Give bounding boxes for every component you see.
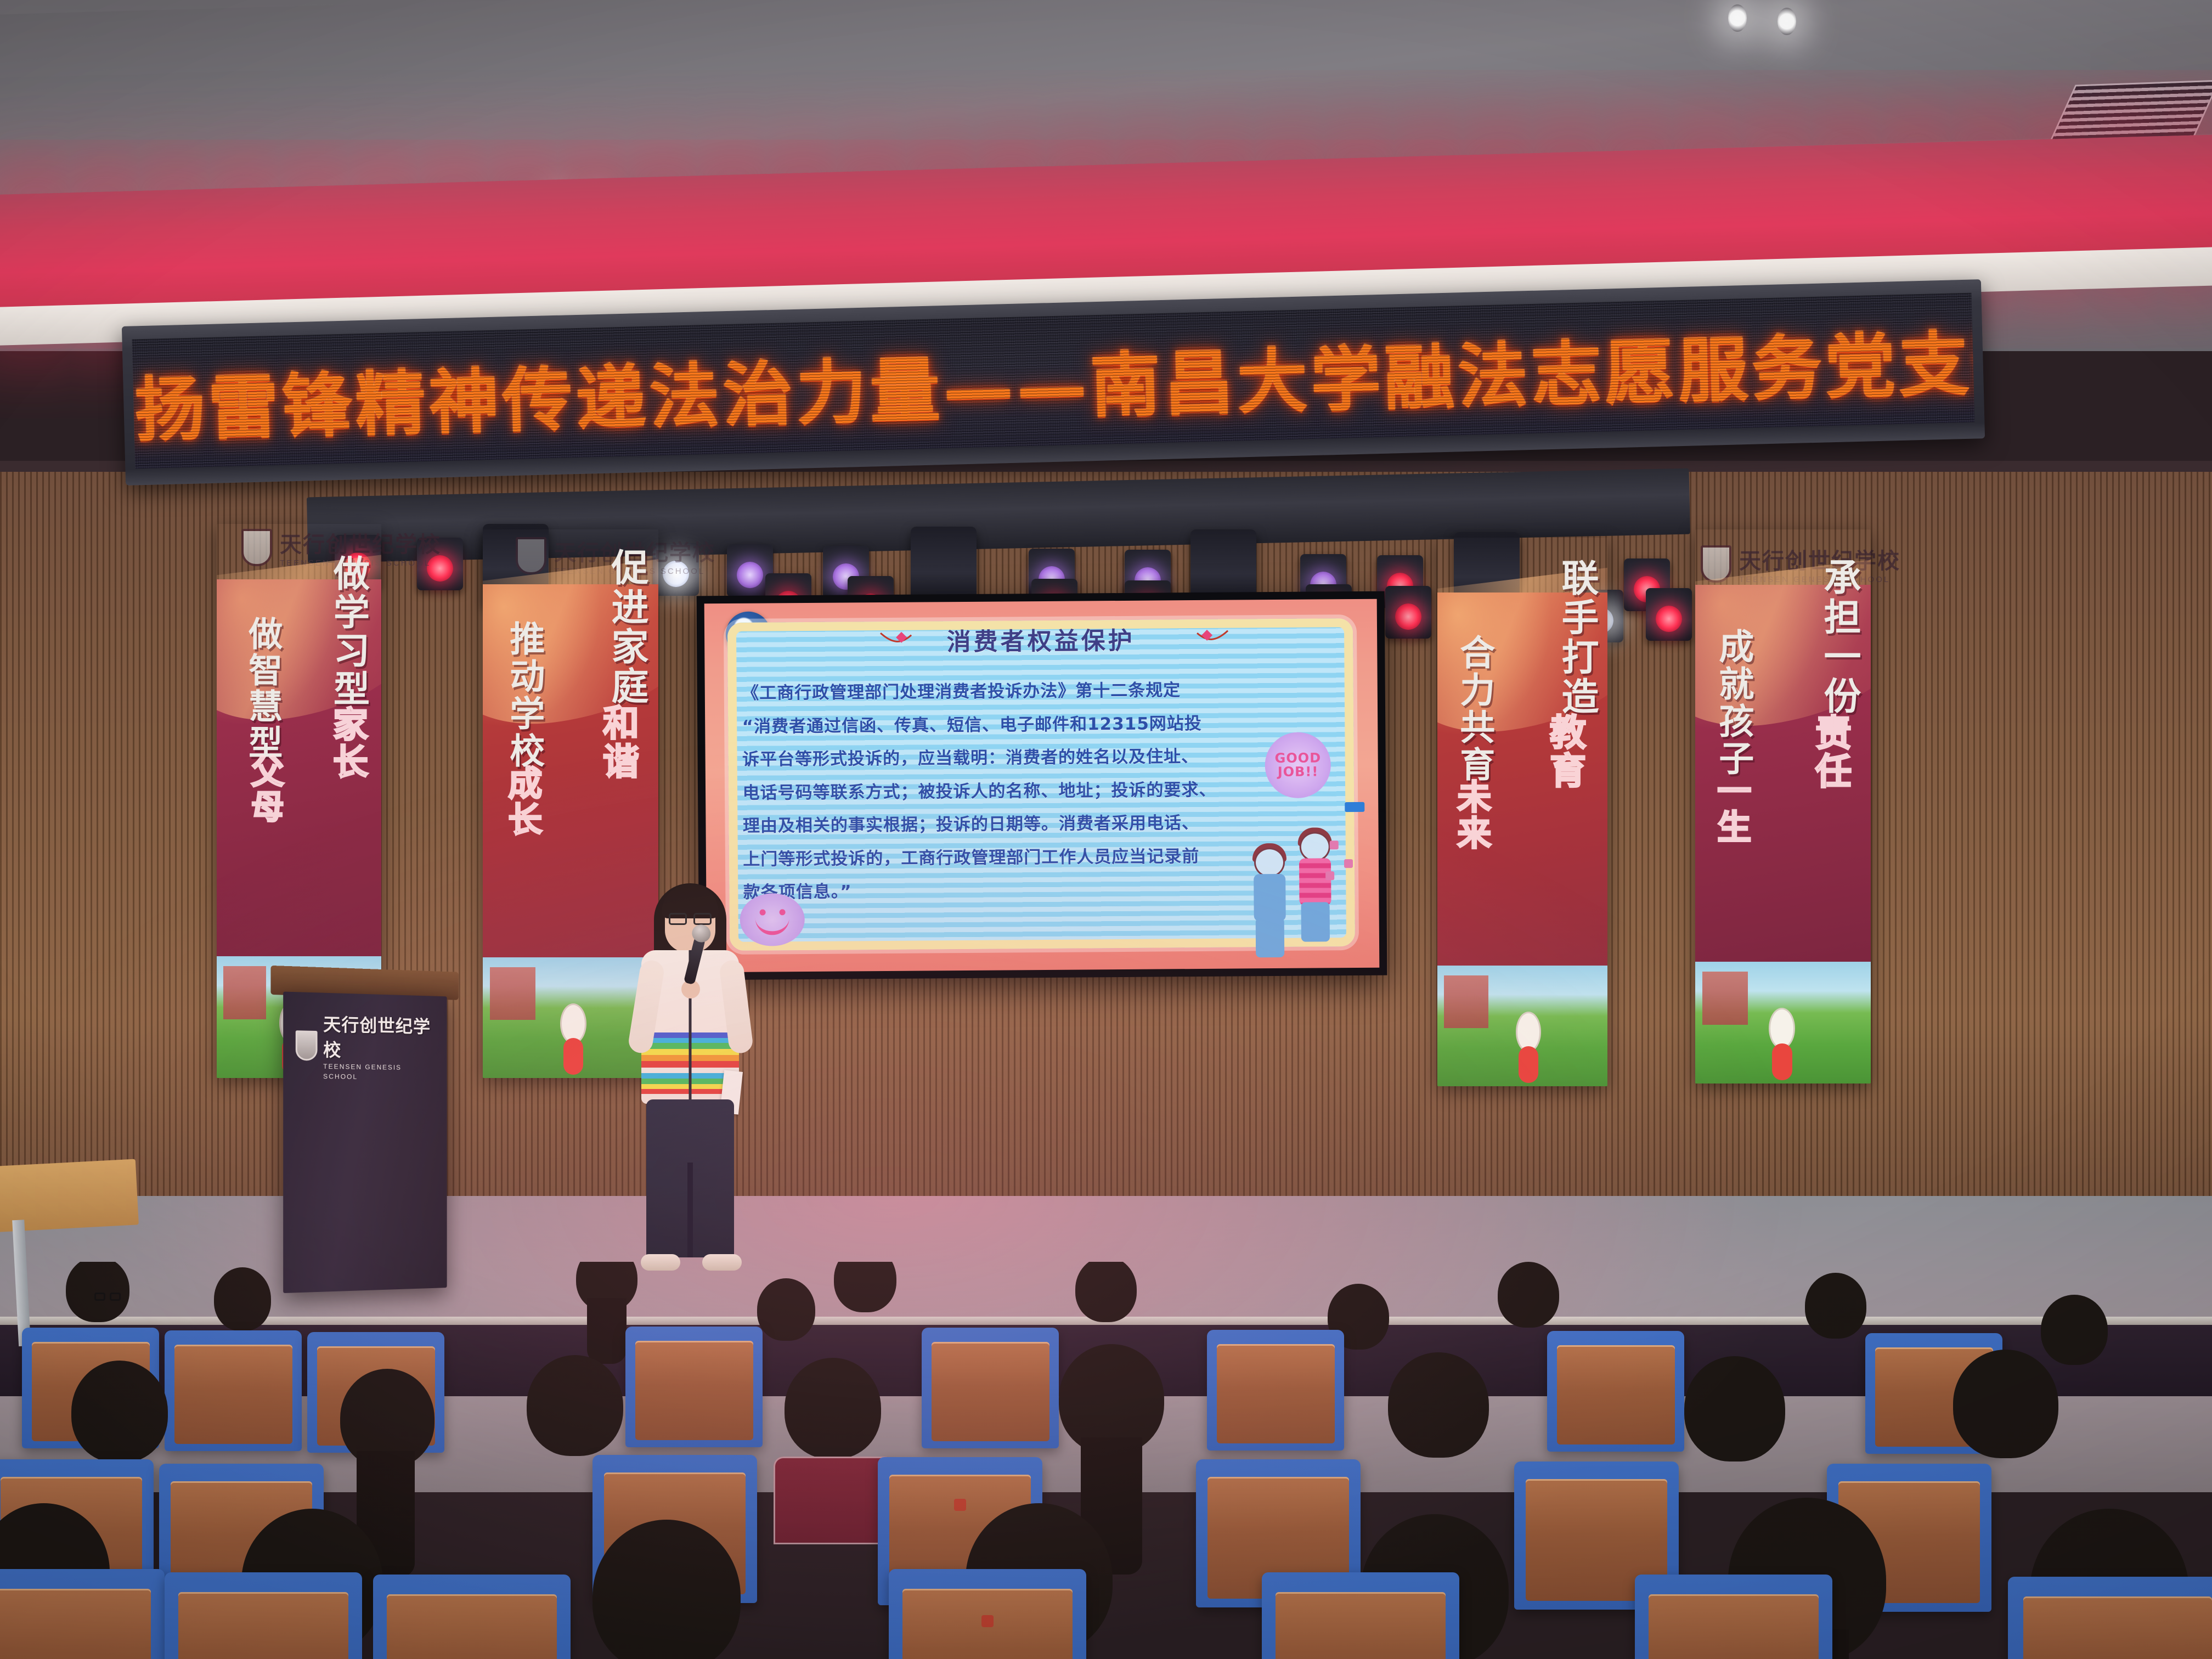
speaker-trousers [646,1099,734,1257]
banner-text-outline: 一生 [1714,773,1748,845]
audience-member [340,1369,439,1500]
good-job-sticker: GOOD JOB!! [1265,732,1331,798]
slide-line: 上门等形式投诉的，工商行政管理部门工作人员应当记录前 [743,839,1331,876]
audience-member [576,1262,642,1328]
cartoon-boy [1248,848,1292,958]
auditorium-seat[interactable] [889,1569,1086,1659]
slide-line: 电话号码等联系方式；被投诉人的名称、地址；投诉的要求、 [742,772,1331,810]
slide-title: 消费者权益保护 [704,619,1377,659]
slide-tab-marker [1345,802,1365,811]
banner-panel-right-2: 承担一份 责任 成就孩子 一生 [1695,529,1871,1084]
podium-logo-en: TEENSEN GENESIS SCHOOL [323,1063,402,1081]
slide-line: 理由及相关的事实根据；投诉的日期等。消费者采用电话、 [743,805,1331,843]
banner-text-outline: 家长 [329,706,365,781]
eyeglasses-icon [94,1293,121,1301]
eyeglasses-icon [669,913,712,925]
side-desk [0,1159,139,1233]
banner-text-outline: 未来 [1454,779,1488,851]
podium: 天行创世纪学校 TEENSEN GENESIS SCHOOL [283,966,447,1301]
auditorium-seat[interactable] [165,1572,362,1659]
cartoon-children-illustration [1248,831,1353,957]
banner-text-solid: 推动学校 [506,620,541,770]
audience-member [214,1267,274,1339]
presentation-slide: ⚖ 消费者权益保护 《工商行政管理部门处理消费者投诉办法》第十二条规定 “消费者… [704,599,1380,973]
audience-member [1059,1344,1169,1481]
par-light-icon [1646,588,1692,641]
speaker-person [624,878,756,1284]
auditorium-seat[interactable] [922,1328,1059,1448]
banner-text-outline: 责任 [1812,714,1849,791]
slide-body: 《工商行政管理部门处理消费者投诉办法》第十二条规定 “消费者通过信函、传真、短信… [742,673,1332,910]
auditorium-seat[interactable] [2008,1577,2212,1659]
auditorium-seat[interactable] [625,1327,763,1447]
slide-line: 款各项信息。” [743,872,1332,909]
projection-screen: ⚖ 消费者权益保护 《工商行政管理部门处理消费者投诉办法》第十二条规定 “消费者… [697,591,1387,980]
auditorium-seat[interactable] [1207,1330,1344,1451]
banner-text-solid: 联手打造 [1558,558,1595,716]
banner-text-solid: 成就孩子 [1715,628,1751,777]
good-job-line2: JOB!! [1278,765,1319,779]
auditorium-seat[interactable] [165,1330,302,1451]
banner-text-outline: 父母 [247,754,281,825]
banner-text-solid: 促进家庭 [607,548,645,706]
audience-member [592,1520,746,1659]
auditorium-seat[interactable] [1547,1331,1684,1452]
slide-line: “消费者通过信函、传真、短信、电子邮件和12315网站投 [742,706,1330,743]
audience-member [1075,1262,1141,1333]
good-job-line1: GOOD [1275,751,1322,765]
banner-text-solid: 合力共育 [1456,634,1492,783]
banner-text-outline: 教育 [1547,713,1583,790]
audience-member [1498,1262,1564,1339]
banner-photo-strip [1437,966,1607,1086]
banner-text-solid: 做智慧型 [245,616,280,761]
audience-member [785,1358,883,1484]
slide-line: 诉平台等形式投诉的，应当载明：消费者的姓名以及住址、 [742,740,1331,777]
banner-text-outline: 和谐 [600,704,636,781]
slide-line: 《工商行政管理部门处理消费者投诉办法》第十二条规定 [742,673,1330,710]
banner-text-outline: 成长 [505,765,539,838]
auditorium-seat[interactable] [0,1569,165,1659]
audience-member [1805,1273,1871,1350]
banner-photo-strip [1695,962,1871,1084]
audience-member [1388,1352,1492,1484]
cartoon-girl [1290,832,1341,957]
ceiling-downlight [1728,4,1747,32]
audience-seating [0,1262,2212,1659]
auditorium-seat[interactable] [373,1575,571,1659]
ceiling-downlight [1778,8,1796,35]
audience-member [66,1262,132,1328]
audience-member [757,1278,817,1350]
auditorium-seat[interactable] [1635,1575,1832,1659]
audience-member [1684,1356,1788,1488]
school-crest-icon [296,1030,318,1060]
par-light-icon [1385,586,1431,639]
banner-panel-right-1: 联手打造 教育 合力共育 未来 [1437,538,1607,1086]
banner-text-solid: 做学习型 [330,555,367,708]
auditorium-seat[interactable] [1262,1572,1459,1659]
banner-text-solid: 承担一份 [1820,558,1858,716]
audience-member [834,1262,900,1322]
podium-logo-cn: 天行创世纪学校 [323,1014,431,1060]
auditorium-scene: 弘扬雷锋精神传递法治力量——南昌大学融法志愿服务党支部 天行创世纪学校 TEEN… [0,0,2212,1659]
podium-school-logo: 天行创世纪学校 TEENSEN GENESIS SCHOOL [296,1010,436,1083]
